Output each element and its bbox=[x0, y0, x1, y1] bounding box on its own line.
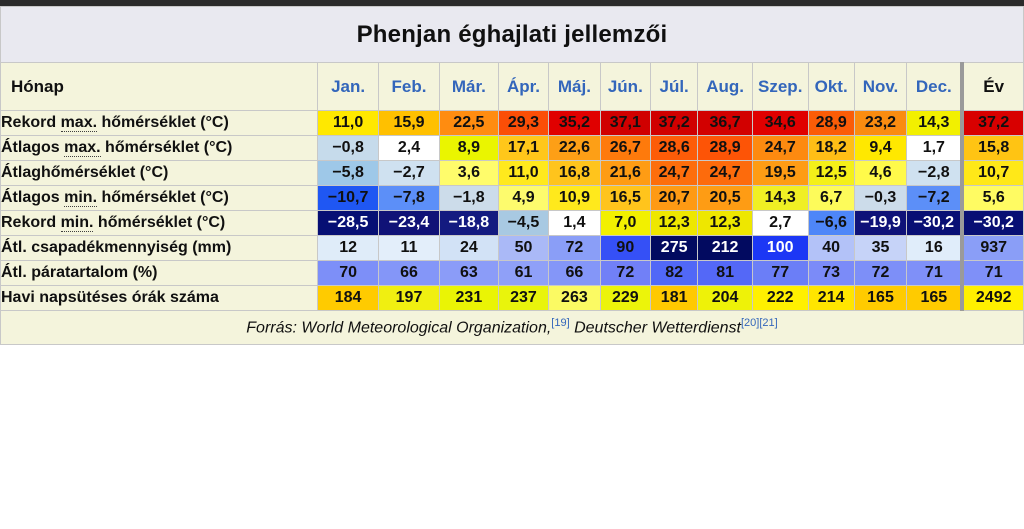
data-cell: 12,3 bbox=[651, 211, 698, 236]
data-cell: 16 bbox=[907, 236, 963, 261]
table-row: Rekord min. hőmérséklet (°C)−28,5−23,4−1… bbox=[1, 211, 1024, 236]
row-label: Rekord min. hőmérséklet (°C) bbox=[1, 211, 318, 236]
data-cell: 71 bbox=[907, 261, 963, 286]
month-header-2[interactable]: Feb. bbox=[379, 63, 440, 111]
data-cell: 184 bbox=[318, 286, 379, 311]
data-cell: 77 bbox=[752, 261, 808, 286]
data-cell: −28,5 bbox=[318, 211, 379, 236]
data-cell: 28,9 bbox=[808, 111, 854, 136]
data-cell: 8,9 bbox=[439, 136, 498, 161]
month-header-3[interactable]: Már. bbox=[439, 63, 498, 111]
data-cell: 73 bbox=[808, 261, 854, 286]
data-cell: −10,7 bbox=[318, 186, 379, 211]
data-cell: 17,1 bbox=[498, 136, 548, 161]
month-header-5[interactable]: Máj. bbox=[549, 63, 600, 111]
data-cell: 82 bbox=[651, 261, 698, 286]
year-data-cell: 937 bbox=[962, 236, 1023, 261]
month-column-header: Hónap bbox=[1, 63, 318, 111]
data-cell: 26,7 bbox=[600, 136, 650, 161]
data-cell: 61 bbox=[498, 261, 548, 286]
climate-table: Phenjan éghajlati jellemzői Hónap Jan.Fe… bbox=[0, 6, 1024, 345]
data-cell: 72 bbox=[549, 236, 600, 261]
data-cell: 11,0 bbox=[318, 111, 379, 136]
data-cell: 63 bbox=[439, 261, 498, 286]
data-cell: 37,1 bbox=[600, 111, 650, 136]
data-cell: 12,3 bbox=[698, 211, 753, 236]
data-cell: −18,8 bbox=[439, 211, 498, 236]
data-cell: −0,8 bbox=[318, 136, 379, 161]
row-label: Átl. páratartalom (%) bbox=[1, 261, 318, 286]
month-header-12[interactable]: Dec. bbox=[907, 63, 963, 111]
year-data-cell: 2492 bbox=[962, 286, 1023, 311]
data-cell: 237 bbox=[498, 286, 548, 311]
table-row: Átl. páratartalom (%)7066636166728281777… bbox=[1, 261, 1024, 286]
footer-reference-21[interactable]: [21] bbox=[759, 317, 777, 329]
data-cell: 18,2 bbox=[808, 136, 854, 161]
data-cell: −0,3 bbox=[854, 186, 907, 211]
data-cell: 2,4 bbox=[379, 136, 440, 161]
data-cell: 275 bbox=[651, 236, 698, 261]
data-cell: 197 bbox=[379, 286, 440, 311]
data-cell: 66 bbox=[549, 261, 600, 286]
data-cell: 14,3 bbox=[752, 186, 808, 211]
data-cell: 24 bbox=[439, 236, 498, 261]
data-cell: 6,7 bbox=[808, 186, 854, 211]
data-cell: −19,9 bbox=[854, 211, 907, 236]
data-cell: 34,6 bbox=[752, 111, 808, 136]
data-cell: 36,7 bbox=[698, 111, 753, 136]
data-cell: 22,6 bbox=[549, 136, 600, 161]
row-label-suffix: hőmérséklet (°C) bbox=[101, 139, 233, 156]
row-label-prefix: Rekord bbox=[1, 214, 61, 231]
data-cell: −5,8 bbox=[318, 161, 379, 186]
data-cell: 20,5 bbox=[698, 186, 753, 211]
row-label-prefix: Átlagos bbox=[1, 189, 64, 206]
row-label-prefix: Rekord bbox=[1, 114, 61, 131]
row-label-abbreviation: max. bbox=[64, 139, 100, 157]
row-label-suffix: hőmérséklet (°C) bbox=[97, 189, 229, 206]
table-row: Átlagos min. hőmérséklet (°C)−10,7−7,8−1… bbox=[1, 186, 1024, 211]
data-cell: 35 bbox=[854, 236, 907, 261]
row-label: Rekord max. hőmérséklet (°C) bbox=[1, 111, 318, 136]
data-cell: 24,7 bbox=[651, 161, 698, 186]
header-row: Hónap Jan.Feb.Már.Ápr.Máj.Jún.Júl.Aug.Sz… bbox=[1, 63, 1024, 111]
footer-row: Forrás: World Meteorological Organizatio… bbox=[1, 311, 1024, 345]
data-cell: 14,3 bbox=[907, 111, 963, 136]
data-cell: −7,8 bbox=[379, 186, 440, 211]
data-cell: −2,8 bbox=[907, 161, 963, 186]
row-label: Átlaghőmérséklet (°C) bbox=[1, 161, 318, 186]
data-cell: 100 bbox=[752, 236, 808, 261]
data-cell: 165 bbox=[907, 286, 963, 311]
footer-source-wmo[interactable]: World Meteorological Organization, bbox=[301, 320, 551, 337]
data-cell: 37,2 bbox=[651, 111, 698, 136]
month-header-11[interactable]: Nov. bbox=[854, 63, 907, 111]
row-label-suffix: hőmérséklet (°C) bbox=[93, 214, 225, 231]
data-cell: 4,6 bbox=[854, 161, 907, 186]
table-row: Rekord max. hőmérséklet (°C)11,015,922,5… bbox=[1, 111, 1024, 136]
data-cell: 90 bbox=[600, 236, 650, 261]
row-label: Átl. csapadékmennyiség (mm) bbox=[1, 236, 318, 261]
data-cell: 72 bbox=[600, 261, 650, 286]
row-label-text: Átl. páratartalom (%) bbox=[1, 264, 157, 281]
climate-table-container: Phenjan éghajlati jellemzői Hónap Jan.Fe… bbox=[0, 0, 1024, 529]
month-header-7[interactable]: Júl. bbox=[651, 63, 698, 111]
year-data-cell: 5,6 bbox=[962, 186, 1023, 211]
data-cell: −4,5 bbox=[498, 211, 548, 236]
data-cell: 40 bbox=[808, 236, 854, 261]
footer-source-dwd[interactable]: Deutscher Wetterdienst bbox=[570, 320, 741, 337]
data-cell: 181 bbox=[651, 286, 698, 311]
data-cell: 72 bbox=[854, 261, 907, 286]
year-data-cell: 10,7 bbox=[962, 161, 1023, 186]
row-label-text: Átl. csapadékmennyiség (mm) bbox=[1, 239, 231, 256]
data-cell: 50 bbox=[498, 236, 548, 261]
table-row: Havi napsütéses órák száma18419723123726… bbox=[1, 286, 1024, 311]
footer-reference-19[interactable]: [19] bbox=[551, 317, 569, 329]
data-cell: 3,6 bbox=[439, 161, 498, 186]
data-cell: 22,5 bbox=[439, 111, 498, 136]
data-cell: 231 bbox=[439, 286, 498, 311]
data-cell: 263 bbox=[549, 286, 600, 311]
row-label-text: Átlaghőmérséklet (°C) bbox=[1, 164, 168, 181]
year-data-cell: 37,2 bbox=[962, 111, 1023, 136]
data-cell: 19,5 bbox=[752, 161, 808, 186]
table-row: Átlagos max. hőmérséklet (°C)−0,82,48,91… bbox=[1, 136, 1024, 161]
data-cell: 229 bbox=[600, 286, 650, 311]
data-cell: 81 bbox=[698, 261, 753, 286]
data-cell: 15,9 bbox=[379, 111, 440, 136]
row-label-abbreviation: min. bbox=[61, 214, 94, 232]
data-cell: 12,5 bbox=[808, 161, 854, 186]
month-header-8[interactable]: Aug. bbox=[698, 63, 753, 111]
data-cell: 24,7 bbox=[752, 136, 808, 161]
data-cell: 23,2 bbox=[854, 111, 907, 136]
row-label-prefix: Átlagos bbox=[1, 139, 64, 156]
data-cell: −7,2 bbox=[907, 186, 963, 211]
data-cell: −23,4 bbox=[379, 211, 440, 236]
month-header-1[interactable]: Jan. bbox=[318, 63, 379, 111]
year-data-cell: −30,2 bbox=[962, 211, 1023, 236]
data-cell: 28,6 bbox=[651, 136, 698, 161]
data-cell: 29,3 bbox=[498, 111, 548, 136]
table-title: Phenjan éghajlati jellemzői bbox=[1, 7, 1024, 63]
year-data-cell: 15,8 bbox=[962, 136, 1023, 161]
data-cell: 16,5 bbox=[600, 186, 650, 211]
month-header-6[interactable]: Jún. bbox=[600, 63, 650, 111]
data-cell: 21,6 bbox=[600, 161, 650, 186]
table-row: Átlaghőmérséklet (°C)−5,8−2,73,611,016,8… bbox=[1, 161, 1024, 186]
data-cell: 28,9 bbox=[698, 136, 753, 161]
data-cell: 4,9 bbox=[498, 186, 548, 211]
data-cell: −6,6 bbox=[808, 211, 854, 236]
data-cell: 7,0 bbox=[600, 211, 650, 236]
data-cell: 16,8 bbox=[549, 161, 600, 186]
row-label-abbreviation: min. bbox=[64, 189, 97, 207]
data-cell: 212 bbox=[698, 236, 753, 261]
title-row: Phenjan éghajlati jellemzői bbox=[1, 7, 1024, 63]
month-header-9[interactable]: Szep. bbox=[752, 63, 808, 111]
source-footer: Forrás: World Meteorological Organizatio… bbox=[1, 311, 1024, 345]
row-label: Átlagos max. hőmérséklet (°C) bbox=[1, 136, 318, 161]
data-cell: 204 bbox=[698, 286, 753, 311]
data-cell: 9,4 bbox=[854, 136, 907, 161]
footer-prefix: Forrás: bbox=[246, 320, 301, 337]
data-cell: 12 bbox=[318, 236, 379, 261]
row-label-text: Havi napsütéses órák száma bbox=[1, 289, 219, 306]
row-label: Havi napsütéses órák száma bbox=[1, 286, 318, 311]
data-cell: 11 bbox=[379, 236, 440, 261]
row-label: Átlagos min. hőmérséklet (°C) bbox=[1, 186, 318, 211]
year-column-header: Év bbox=[962, 63, 1023, 111]
data-cell: 66 bbox=[379, 261, 440, 286]
month-header-4[interactable]: Ápr. bbox=[498, 63, 548, 111]
row-label-abbreviation: max. bbox=[61, 114, 97, 132]
footer-reference-20[interactable]: [20] bbox=[741, 317, 759, 329]
data-cell: 35,2 bbox=[549, 111, 600, 136]
data-cell: 24,7 bbox=[698, 161, 753, 186]
data-cell: 222 bbox=[752, 286, 808, 311]
data-cell: 70 bbox=[318, 261, 379, 286]
data-cell: −30,2 bbox=[907, 211, 963, 236]
row-label-suffix: hőmérséklet (°C) bbox=[97, 114, 229, 131]
month-header-10[interactable]: Okt. bbox=[808, 63, 854, 111]
data-cell: −1,8 bbox=[439, 186, 498, 211]
table-row: Átl. csapadékmennyiség (mm)1211245072902… bbox=[1, 236, 1024, 261]
data-cell: 214 bbox=[808, 286, 854, 311]
data-cell: 1,4 bbox=[549, 211, 600, 236]
data-cell: 20,7 bbox=[651, 186, 698, 211]
data-cell: 1,7 bbox=[907, 136, 963, 161]
data-cell: 2,7 bbox=[752, 211, 808, 236]
data-cell: 165 bbox=[854, 286, 907, 311]
data-cell: 10,9 bbox=[549, 186, 600, 211]
data-cell: 11,0 bbox=[498, 161, 548, 186]
data-cell: −2,7 bbox=[379, 161, 440, 186]
year-data-cell: 71 bbox=[962, 261, 1023, 286]
